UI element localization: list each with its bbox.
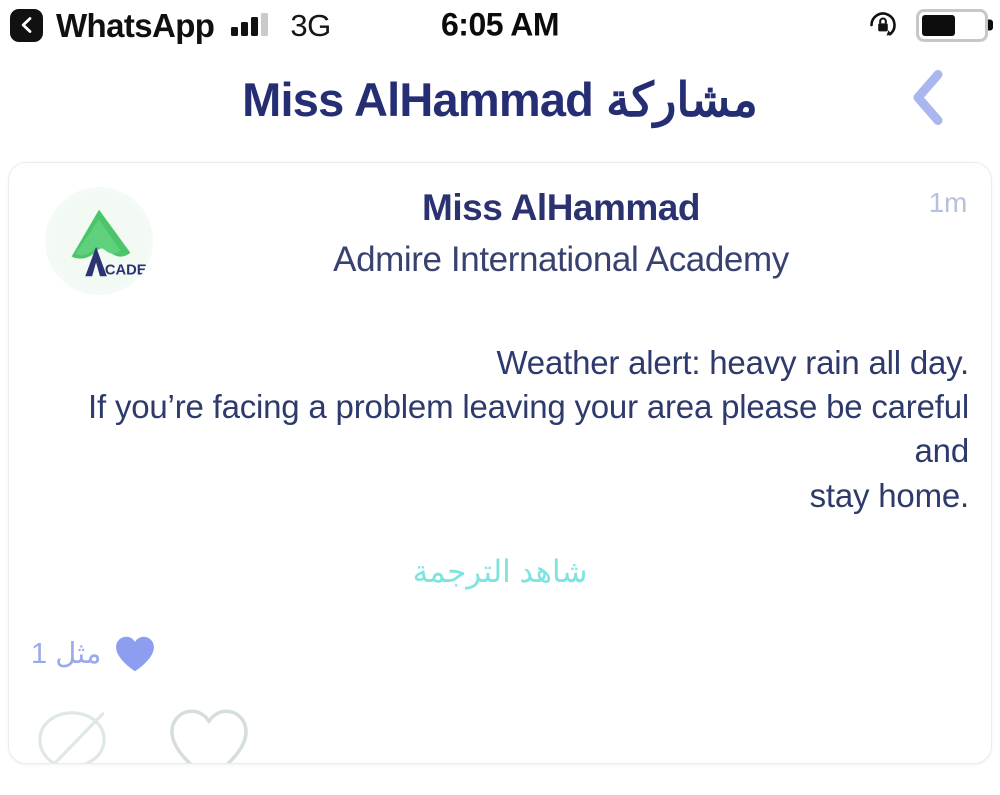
reaction-summary[interactable]: مثل 1 bbox=[31, 634, 969, 674]
reaction-count-label: مثل 1 bbox=[31, 636, 101, 671]
post-timestamp: 1m bbox=[929, 187, 967, 219]
network-type-label: 3G bbox=[290, 10, 330, 41]
poster-organization: Admire International Academy bbox=[153, 237, 969, 283]
chevron-left-icon bbox=[906, 67, 952, 129]
message-line: If you’re facing a problem leaving your … bbox=[41, 385, 969, 473]
carrier-app-label: WhatsApp bbox=[56, 9, 214, 42]
like-button[interactable] bbox=[165, 704, 253, 764]
back-to-app-button[interactable] bbox=[10, 9, 43, 42]
status-bar-left: WhatsApp 3G bbox=[0, 9, 331, 42]
status-bar-right bbox=[866, 8, 988, 42]
back-chevron-icon bbox=[17, 15, 37, 35]
header-back-button[interactable] bbox=[906, 67, 952, 134]
comment-disabled-button[interactable] bbox=[31, 704, 113, 764]
heart-outline-icon bbox=[165, 704, 253, 764]
academy-logo-avatar: CADEMY bbox=[50, 192, 148, 290]
status-bar: WhatsApp 3G 6:05 AM bbox=[0, 0, 1000, 50]
page-header: مشاركة Miss AlHammad bbox=[0, 50, 1000, 150]
poster-name: Miss AlHammad bbox=[153, 185, 969, 231]
heart-filled-icon bbox=[113, 634, 157, 674]
page-title: مشاركة Miss AlHammad bbox=[242, 72, 758, 128]
battery-icon bbox=[916, 9, 988, 42]
rotation-lock-icon bbox=[866, 8, 900, 42]
post-card: CADEMY Miss AlHammad Admire Internationa… bbox=[8, 162, 992, 764]
signal-bars-icon bbox=[231, 14, 268, 36]
avatar[interactable]: CADEMY bbox=[45, 187, 153, 295]
message-line: stay home. bbox=[41, 474, 969, 518]
message-line: Weather alert: heavy rain all day. bbox=[41, 341, 969, 385]
comment-disabled-icon bbox=[31, 704, 113, 764]
post-header: CADEMY Miss AlHammad Admire Internationa… bbox=[31, 181, 969, 295]
poster-identity: Miss AlHammad Admire International Acade… bbox=[153, 181, 969, 283]
post-actions bbox=[31, 704, 969, 764]
post-message: Weather alert: heavy rain all day. If yo… bbox=[31, 341, 969, 518]
svg-text:CADEMY: CADEMY bbox=[105, 262, 148, 278]
view-translation-link[interactable]: شاهد الترجمة bbox=[31, 554, 969, 590]
